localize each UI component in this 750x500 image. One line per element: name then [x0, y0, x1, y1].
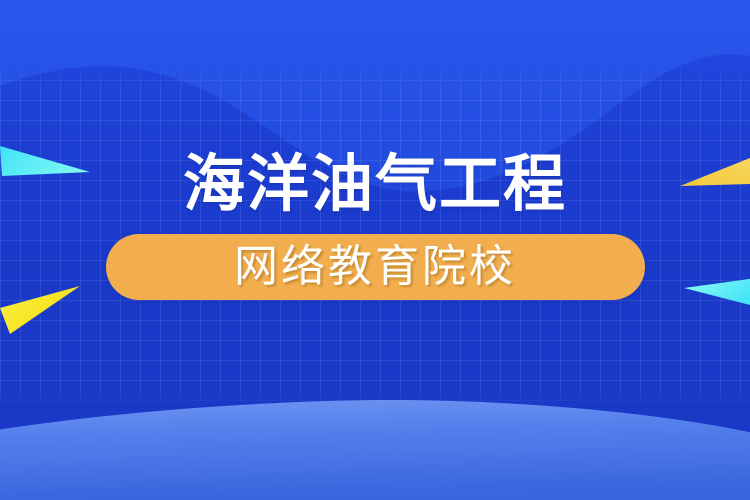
banner-content: 海洋油气工程 网络教育院校 [0, 0, 750, 500]
subtitle-pill[interactable]: 网络教育院校 [106, 234, 645, 300]
promo-banner: 海洋油气工程 网络教育院校 [0, 0, 750, 500]
page-title: 海洋油气工程 [183, 152, 567, 217]
subtitle-pill-label: 网络教育院校 [234, 245, 516, 289]
